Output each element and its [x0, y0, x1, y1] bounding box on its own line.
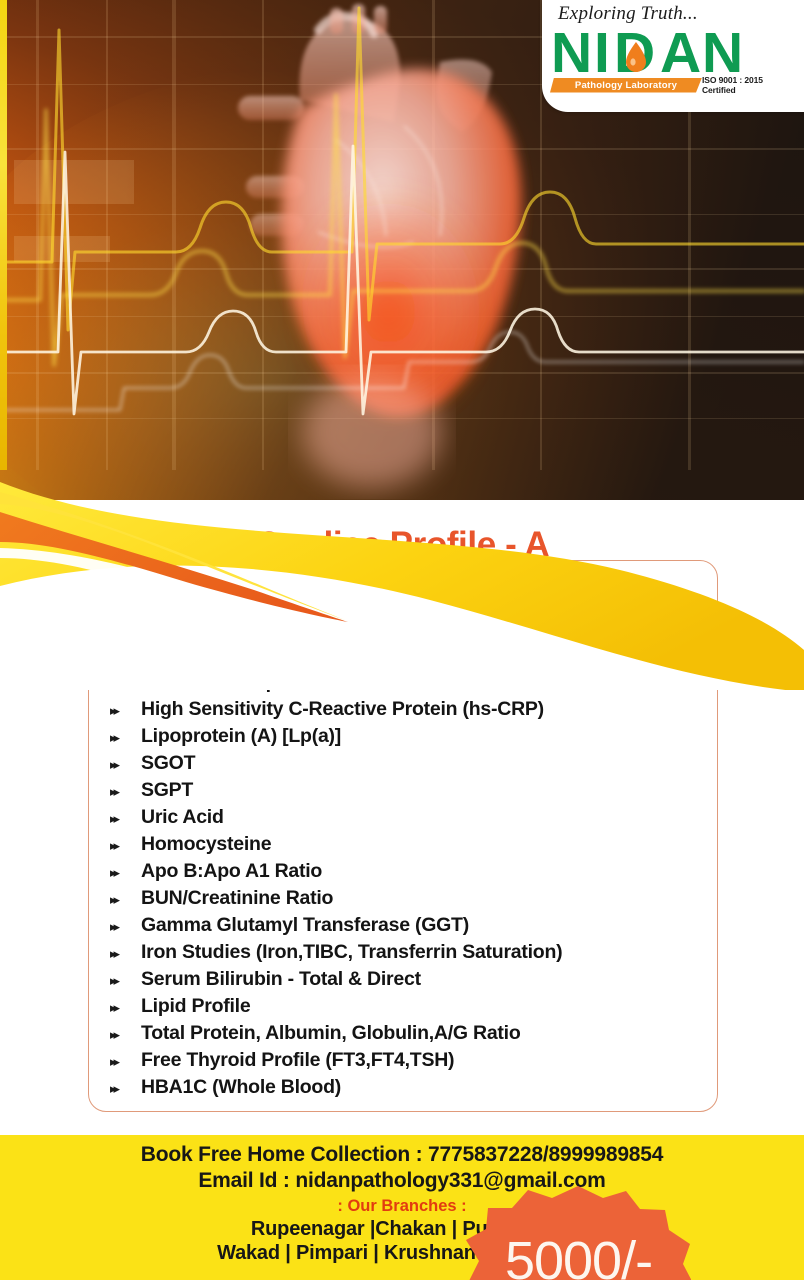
price-starburst: 5000/-	[466, 1182, 691, 1280]
list-item: ▸▸BUN/Creatinine Ratio	[110, 887, 710, 914]
svg-text:N: N	[551, 24, 591, 81]
test-name: Lipoprotein (A) [Lp(a)]	[141, 725, 341, 748]
list-item: ▸▸Gamma Glutamyl Transferase (GGT)	[110, 914, 710, 941]
test-name: Lipid Profile	[141, 995, 250, 1018]
list-item: ▸▸Iron Studies (Iron,TIBC, Transferrin S…	[110, 941, 710, 968]
double-chevron-icon: ▸▸	[110, 1026, 141, 1041]
svg-text:N: N	[702, 24, 742, 81]
double-chevron-icon: ▸▸	[110, 972, 141, 987]
test-name: Serum Bilirubin - Total & Direct	[141, 968, 421, 991]
brand-tagline: Exploring Truth...	[558, 3, 698, 25]
double-chevron-icon: ▸▸	[110, 810, 141, 825]
list-item: ▸▸High Sensitivity C-Reactive Protein (h…	[110, 698, 710, 725]
double-chevron-icon: ▸▸	[110, 1053, 141, 1068]
test-name: SGPT	[141, 779, 193, 802]
double-chevron-icon: ▸▸	[110, 783, 141, 798]
list-item: ▸▸Serum Bilirubin - Total & Direct	[110, 968, 710, 995]
list-item: ▸▸SGOT	[110, 752, 710, 779]
svg-text:A: A	[660, 24, 700, 81]
branches-label: : Our Branches :	[337, 1197, 466, 1216]
test-name: HBA1C (Whole Blood)	[141, 1076, 341, 1099]
list-item: ▸▸Homocysteine	[110, 833, 710, 860]
double-chevron-icon: ▸▸	[110, 891, 141, 906]
double-chevron-icon: ▸▸	[110, 999, 141, 1014]
list-item: ▸▸Uric Acid	[110, 806, 710, 833]
test-name: SGOT	[141, 752, 195, 775]
test-name: Total Protein, Albumin, Globulin,A/G Rat…	[141, 1022, 520, 1045]
test-name: Uric Acid	[141, 806, 224, 829]
swoosh-divider	[0, 400, 804, 690]
svg-text:I: I	[594, 24, 609, 81]
double-chevron-icon: ▸▸	[110, 945, 141, 960]
double-chevron-icon: ▸▸	[110, 729, 141, 744]
list-item: ▸▸HBA1C (Whole Blood)	[110, 1076, 710, 1103]
list-item: ▸▸Lipoprotein (A) [Lp(a)]	[110, 725, 710, 752]
test-name: Apo B:Apo A1 Ratio	[141, 860, 322, 883]
test-name: Free Thyroid Profile (FT3,FT4,TSH)	[141, 1049, 454, 1072]
double-chevron-icon: ▸▸	[110, 756, 141, 771]
brand-sub-pill: Pathology Laboratory	[550, 78, 702, 93]
test-name: Gamma Glutamyl Transferase (GGT)	[141, 914, 469, 937]
poster: Exploring Truth... N I D A N Pathology L…	[0, 0, 804, 1280]
test-name: BUN/Creatinine Ratio	[141, 887, 333, 910]
double-chevron-icon: ▸▸	[110, 702, 141, 717]
list-item: ▸▸Lipid Profile	[110, 995, 710, 1022]
double-chevron-icon: ▸▸	[110, 1080, 141, 1095]
double-chevron-icon: ▸▸	[110, 864, 141, 879]
home-collection-line[interactable]: Book Free Home Collection : 7775837228/8…	[141, 1143, 664, 1167]
test-name: Homocysteine	[141, 833, 271, 856]
brand-wordmark: N I D A N	[550, 24, 796, 81]
test-name: Iron Studies (Iron,TIBC, Transferrin Sat…	[141, 941, 562, 964]
test-name: High Sensitivity C-Reactive Protein (hs-…	[141, 698, 544, 721]
list-item: ▸▸Apo B:Apo A1 Ratio	[110, 860, 710, 887]
list-item: ▸▸Free Thyroid Profile (FT3,FT4,TSH)	[110, 1049, 710, 1076]
brand-logo-card: Exploring Truth... N I D A N Pathology L…	[542, 0, 804, 112]
price-value: 5000/-	[466, 1182, 691, 1280]
list-item: ▸▸Total Protein, Albumin, Globulin,A/G R…	[110, 1022, 710, 1049]
list-item: ▸▸SGPT	[110, 779, 710, 806]
double-chevron-icon: ▸▸	[110, 837, 141, 852]
brand-sub-text: Pathology Laboratory	[575, 80, 677, 91]
double-chevron-icon: ▸▸	[110, 918, 141, 933]
